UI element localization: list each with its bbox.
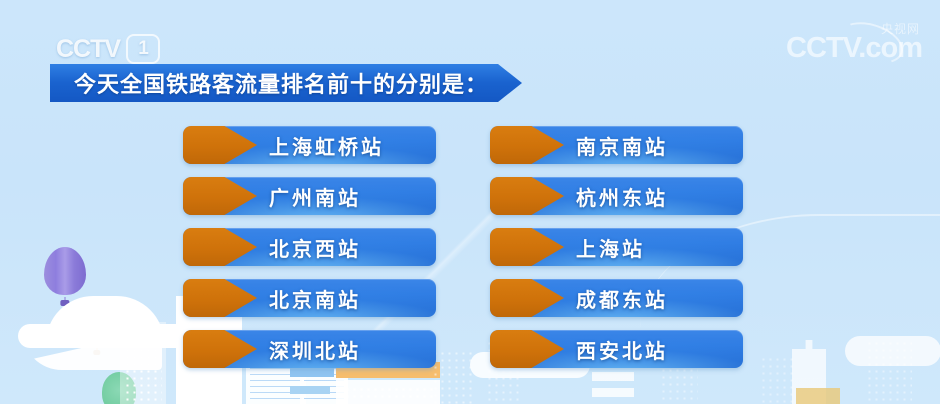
headline-banner-shape: 今天全国铁路客流量排名前十的分别是：	[50, 64, 522, 102]
station-item[interactable]: 北京南站	[183, 279, 436, 317]
cloud-shape	[46, 296, 164, 348]
channel-number-badge: 1	[126, 34, 160, 64]
cloud-wisp	[845, 336, 940, 366]
station-item[interactable]: 广州南站	[183, 177, 436, 215]
rank-marker-arrow-icon	[490, 177, 564, 215]
building-block	[120, 322, 166, 404]
building-accent-bar	[290, 368, 334, 377]
rank-marker-arrow-icon	[183, 126, 257, 164]
building-block	[866, 340, 912, 404]
station-name: 成都东站	[576, 284, 668, 313]
station-item[interactable]: 深圳北站	[183, 330, 436, 368]
station-name: 北京南站	[269, 284, 361, 313]
building-accent-bar	[592, 388, 634, 397]
station-item[interactable]: 南京南站	[490, 126, 743, 164]
cloud-shape	[18, 324, 190, 348]
rank-marker-arrow-icon	[490, 279, 564, 317]
rank-marker-arrow-icon	[183, 228, 257, 266]
building-block	[336, 380, 440, 404]
headline-banner: 今天全国铁路客流量排名前十的分别是：	[50, 64, 522, 102]
station-item[interactable]: 西安北站	[490, 330, 743, 368]
station-name: 广州南站	[269, 182, 361, 211]
station-item[interactable]: 成都东站	[490, 279, 743, 317]
station-name: 西安北站	[576, 335, 668, 364]
building-block	[124, 326, 162, 404]
tree-icon	[102, 372, 136, 404]
station-item[interactable]: 上海站	[490, 228, 743, 266]
rank-marker-arrow-icon	[490, 330, 564, 368]
station-item[interactable]: 北京西站	[183, 228, 436, 266]
station-item[interactable]: 上海虹桥站	[183, 126, 436, 164]
building-accent-bar	[592, 372, 634, 381]
building-spire	[792, 340, 826, 404]
cloud-wisp	[22, 330, 162, 370]
station-name: 杭州东站	[576, 182, 668, 211]
station-name: 南京南站	[576, 131, 668, 160]
building-accent-bar	[796, 388, 840, 404]
station-name: 北京西站	[269, 233, 361, 262]
headline-text: 今天全国铁路客流量排名前十的分别是：	[74, 67, 488, 99]
building-accent-bar	[290, 386, 330, 394]
station-ranking-list: 上海虹桥站 广州南站 北京西站 北京南站 深圳北站 南京南站 杭州东站 上海	[183, 126, 793, 368]
cctv-com-watermark: 央视网 CCTV.com	[786, 32, 922, 65]
station-name: 深圳北站	[269, 335, 361, 364]
rank-marker-arrow-icon	[183, 279, 257, 317]
broadcast-graphic: CCTV 1 央视网 CCTV.com 今天全国铁路客流量排名前十的分别是： 上…	[0, 0, 940, 404]
rank-marker-arrow-icon	[490, 126, 564, 164]
station-name: 上海虹桥站	[269, 131, 384, 160]
hot-air-balloon-purple-icon	[44, 247, 86, 305]
hot-air-balloon-orange-icon	[80, 307, 114, 353]
rank-marker-arrow-icon	[183, 330, 257, 368]
rank-marker-arrow-icon	[183, 177, 257, 215]
rank-marker-arrow-icon	[490, 228, 564, 266]
cctv-wordmark: CCTV	[56, 35, 120, 64]
watermark-chinese-text: 央视网	[881, 20, 920, 37]
station-item[interactable]: 杭州东站	[490, 177, 743, 215]
station-name: 上海站	[576, 233, 645, 262]
cctv-channel-logo: CCTV 1	[56, 34, 160, 64]
building-window-grid	[344, 386, 434, 398]
